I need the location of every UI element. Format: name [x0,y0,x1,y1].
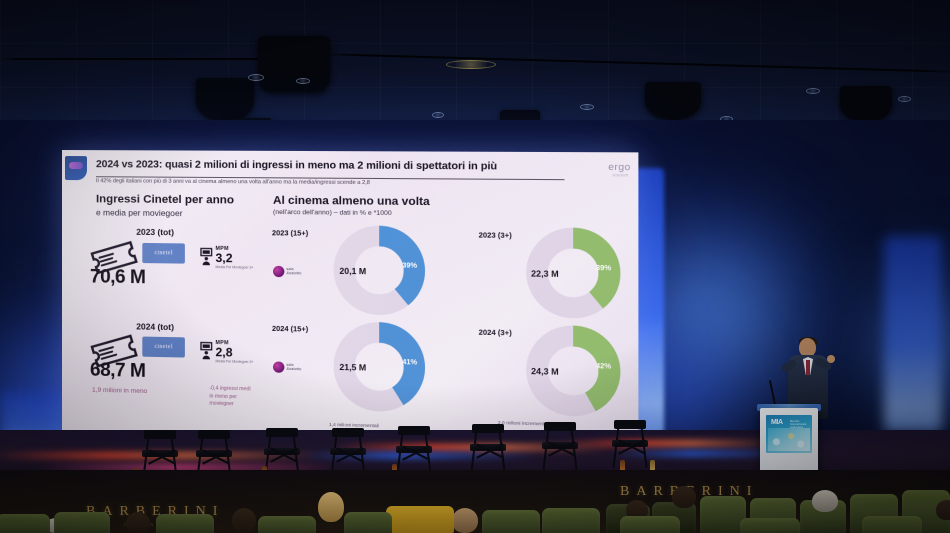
cinetel-badge-label: cinetel [154,344,172,350]
ceiling-downlight [248,74,264,81]
slide-corner-logo-icon [65,156,87,180]
auditorium-photo: 2024 vs 2023: quasi 2 milioni di ingress… [0,0,950,533]
mpm-block-2024: MPM 2,8 Media Per Moviegoer 3+ [215,340,253,364]
audience-head [232,508,256,533]
audience-head [936,500,950,520]
donut-percent-3: 42% [596,363,611,371]
audience-head [452,508,478,533]
stage-light-beam [560,440,780,447]
donut-percent-2: 41% [402,359,417,367]
ceiling-downlight [296,78,310,84]
ceiling-speaker [196,78,254,122]
donut-percent-0: 39% [402,262,417,269]
sala-salotto-mark-icon [273,266,284,277]
audience-seat [542,508,600,533]
mpm-desc-2024: Media Per Moviegoer 3+ [215,359,253,364]
audience-head [318,492,344,522]
ceiling-warm-light [446,60,496,69]
director-chair [330,428,366,476]
sala-logo-line1: sala [286,267,293,271]
donut-value-1: 22,3 M [531,268,559,279]
ceiling-speaker [840,86,892,122]
right-section-heading: Al cinema almeno una volta [273,195,430,209]
mpm-block-2023: MPM 3,2 Media Per Moviegoer 3+ [215,246,253,270]
audience-seat [0,514,50,533]
ceiling-downlight [806,88,820,94]
cinetel-badge-2023: cinetel [142,243,185,264]
sala-logo-line2: &salotto [286,367,301,371]
audience-seat [344,512,392,533]
presenter-tie [806,360,810,375]
right-section-subheading: (nell'arco dell'anno) – dati in % e *100… [273,209,392,217]
audience-head [126,512,150,533]
sala-salotto-mark-icon [273,361,284,372]
ceiling-downlight [432,112,444,118]
audience-seat [862,516,922,533]
audience-seat [54,512,110,533]
cinetel-badge-2024: cinetel [142,337,185,358]
left-row-value-2023: 70,6 M [90,266,145,289]
director-chair [396,426,432,474]
audience-yellow-item [386,506,454,533]
donut-value-2: 21,5 M [339,362,366,373]
led-light-column [884,236,942,432]
mpm-note-2024: -0,4 ingressi medi in meno per moviegoer [209,385,252,409]
sala-salotto-logo: sala &salotto [273,361,308,374]
donut-label-2: 2024 (15+) [272,324,308,334]
audience-seat [620,516,680,533]
audience-seat [740,518,800,533]
slide-title: 2024 vs 2023: quasi 2 milioni di ingress… [96,159,630,173]
donut-label-0: 2023 (15+) [272,228,308,238]
audience-seat [258,516,316,533]
director-chair [612,420,648,468]
slide-subtitle: Il 42% degli italiani con più di 3 anni … [96,178,370,186]
audience-seat [482,510,540,533]
audience-head [672,486,696,508]
cinetel-badge-label: cinetel [154,250,172,256]
director-chair [542,422,578,470]
podium-sign-artwork [768,428,810,451]
audience-seat [156,514,214,533]
moviegoer-icon [200,248,212,266]
podium-logo-sub: Mercato Internazionale Audiovisivo [790,420,810,429]
ceiling-downlight [898,96,911,102]
mpm-desc-2023: Media Per Moviegoer 3+ [215,265,253,270]
ergo-logo: ergo [608,162,630,174]
donut-label-1: 2023 (3+) [479,230,512,240]
donut-value-0: 20,1 M [339,266,366,277]
sala-logo-line2: &salotto [286,271,301,275]
mpm-value-2023: 3,2 [215,252,253,265]
sala-salotto-logo: sala &salotto [273,266,308,279]
podium-logo: MIA [771,419,783,426]
donut-label-3: 2024 (3+) [479,327,512,337]
left-row-note-2024: 1,9 milioni in meno [92,387,147,395]
podium-sign: MIA Mercato Internazionale Audiovisivo [766,415,812,453]
left-row-value-2024: 68,7 M [90,360,145,383]
ergo-logo-sub: research [612,173,628,177]
left-section-subheading: e media per moviegoer [96,207,183,218]
left-section-heading: Ingressi Cinetel per anno [96,193,234,206]
left-row-year-2023: 2023 (tot) [136,227,174,237]
mpm-value-2024: 2,8 [215,346,253,360]
director-chair [264,428,300,476]
ceiling-downlight [580,104,594,110]
left-row-year-2024: 2024 (tot) [136,321,174,332]
presentation-slide: 2024 vs 2023: quasi 2 milioni di ingress… [62,150,638,451]
audience-head [812,490,838,512]
presenter-hand [827,355,835,363]
ceiling-speaker [645,82,701,120]
donut-value-3: 24,3 M [531,366,559,377]
moviegoer-icon [200,342,212,360]
ceiling-speaker [258,36,330,92]
director-chair [470,424,506,472]
donut-percent-1: 39% [596,265,611,273]
sala-logo-line1: sala [286,362,293,366]
